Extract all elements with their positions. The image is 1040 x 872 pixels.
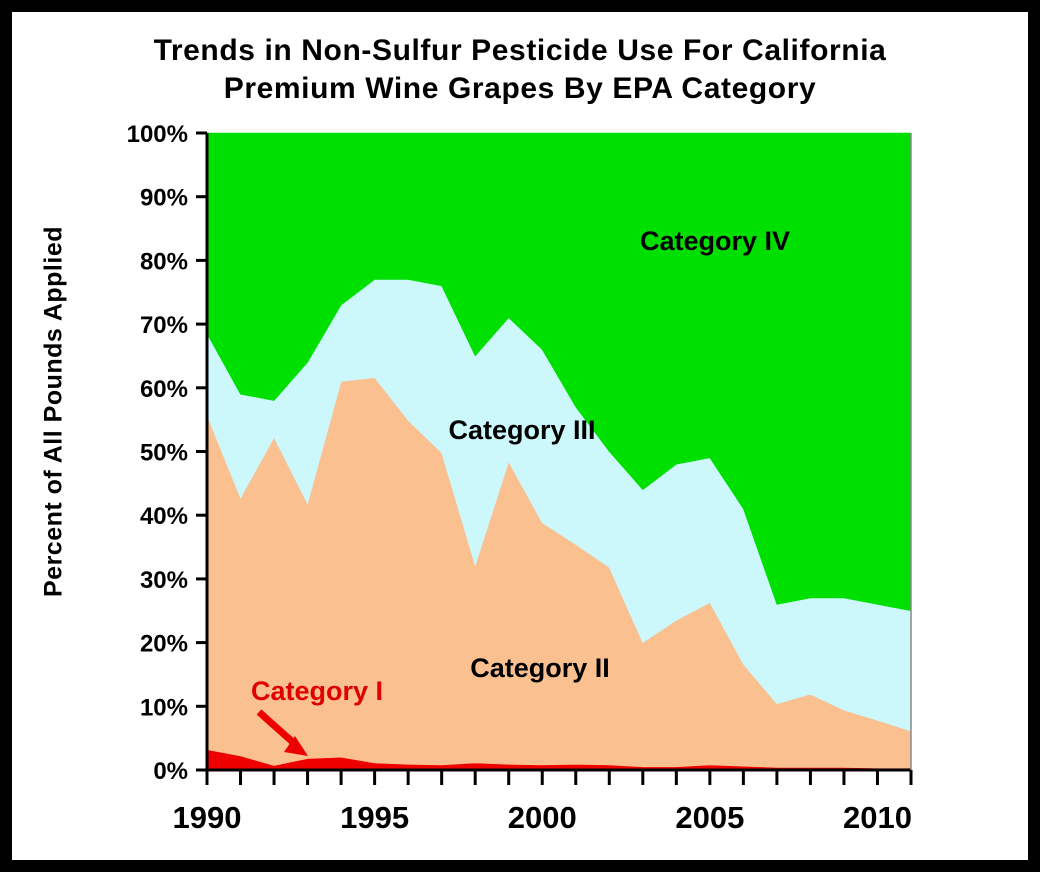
y-tick-label: 100% <box>127 121 188 148</box>
series-label-category-iv: Category IV <box>640 226 790 256</box>
x-tick-label: 1990 <box>173 800 242 835</box>
x-tick-label: 2000 <box>508 800 577 835</box>
chart-page: Trends in Non-Sulfur Pesticide Use For C… <box>12 12 1028 860</box>
y-tick-label: 50% <box>140 440 188 467</box>
series-label-category-ii: Category II <box>470 653 610 683</box>
y-axis-title: Percent of All Pounds Applied <box>40 132 69 692</box>
chart-plot-area: 0%10%20%30%40%50%60%70%80%90%100% 199019… <box>12 12 1028 860</box>
y-tick-label: 30% <box>140 567 188 594</box>
series-label-category-i: Category I <box>251 676 383 706</box>
x-axis-ticks: 19901995200020052010 <box>173 770 912 835</box>
x-tick-label: 2010 <box>843 800 912 835</box>
y-tick-label: 80% <box>140 248 188 275</box>
y-tick-label: 10% <box>140 694 188 721</box>
y-axis-ticks: 0%10%20%30%40%50%60%70%80%90%100% <box>127 121 207 785</box>
x-tick-label: 1995 <box>340 800 409 835</box>
y-tick-label: 0% <box>153 758 188 785</box>
series-label-category-iii: Category III <box>448 415 595 445</box>
y-tick-label: 60% <box>140 376 188 403</box>
y-tick-label: 90% <box>140 185 188 212</box>
y-tick-label: 20% <box>140 631 188 658</box>
y-tick-label: 40% <box>140 503 188 530</box>
y-tick-label: 70% <box>140 312 188 339</box>
x-tick-label: 2005 <box>675 800 744 835</box>
